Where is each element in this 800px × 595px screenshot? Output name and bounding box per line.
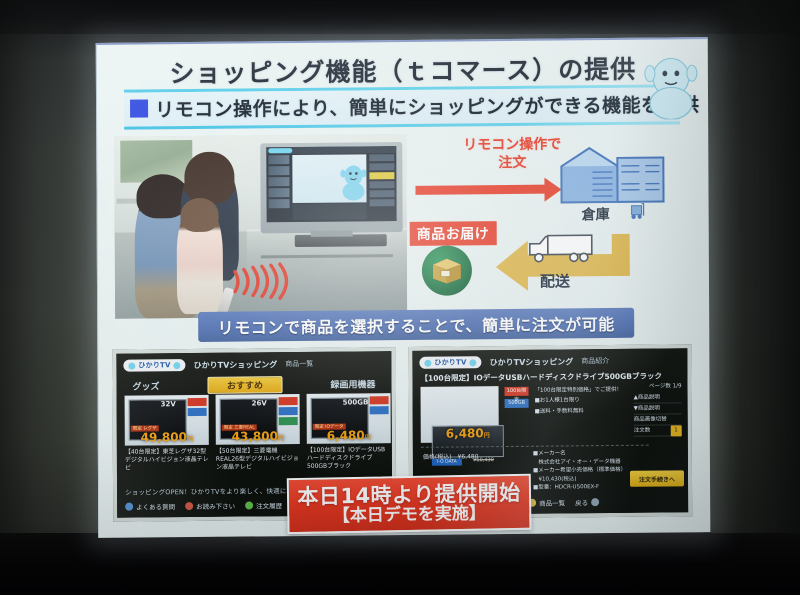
- warehouse-icon: [559, 143, 665, 206]
- product-grid: 32V 限定 レグザ 49,800円 【40台限定】東芝レグザ32型デジタルハイ…: [125, 393, 393, 473]
- detail-tags: 100台限定 500GB: [505, 387, 529, 411]
- product-price-value: 43,800: [232, 429, 278, 443]
- footer-button-order-history[interactable]: 注文履歴: [245, 500, 282, 510]
- detail-tag-limited: 100台限定: [505, 387, 529, 396]
- detail-note-2: ■送料・手数料無料: [535, 406, 645, 417]
- delivery-badge: 商品お届け: [410, 221, 497, 246]
- footer-button-faq[interactable]: よくある質問: [125, 501, 175, 511]
- order-checkout-button[interactable]: 注文手続きへ: [630, 470, 684, 487]
- tab-recommended[interactable]: おすすめ: [208, 376, 282, 394]
- detail-quantity-label: 注文数: [634, 425, 651, 436]
- detail-notes: 「100台限定特別価格」でご提供！ ■お1人様1台限り ■送料・手数料無料: [535, 385, 645, 417]
- tab-recording-devices[interactable]: 録画用機器: [324, 376, 381, 392]
- detail-footer-button-product-list[interactable]: 商品一覧: [528, 497, 565, 507]
- detail-tag-capacity: 500GB: [505, 399, 529, 408]
- hikari-tv-logo: ひかりTV: [419, 356, 481, 369]
- product-tags: [188, 398, 207, 418]
- detail-service-name: ひかりTVショッピング: [490, 356, 574, 368]
- footer-button-faq-label: よくある質問: [136, 501, 175, 511]
- list-service-name: ひかりTVショッピング: [194, 359, 278, 371]
- footer-button-readme-label: お読み下さい: [196, 501, 235, 511]
- detail-price-line: 価格(税込) ¥6,480: [423, 451, 479, 461]
- detail-quantity-value: 1: [670, 425, 682, 436]
- product-name: 【50台限定】三菱電機REAL26型デジタルハイビジョン液晶テレビ: [216, 447, 300, 472]
- tv-mascot-icon: [340, 162, 366, 200]
- detail-price-value: 6,480: [446, 426, 484, 440]
- product-price: 6,480円: [310, 429, 388, 442]
- tv-screen: [266, 146, 396, 222]
- category-tabs[interactable]: グッズ おすすめ 録画用機器: [126, 375, 381, 394]
- projected-slide: ショッピング機能（ｔコマース）の提供 リモコン操作により、簡単にショッピングがで…: [96, 37, 711, 538]
- tab-goods[interactable]: グッズ: [126, 378, 165, 393]
- logo-dot-icon: [424, 359, 431, 366]
- subtitle: リモコン操作により、簡単にショッピングができる機能を提供: [155, 90, 700, 122]
- product-price-value: 49,800: [141, 430, 187, 444]
- hikari-tv-mascot-icon: [644, 51, 698, 120]
- product-tag-freeship: [279, 407, 298, 415]
- footer-button-readme[interactable]: お読み下さい: [185, 501, 235, 511]
- hikari-tv-logo: ひかりTV: [123, 359, 185, 372]
- detail-side-panel: ページ数 1/9 ▲商品説明 ▼商品説明 商品画像切替 注文数 1: [633, 381, 681, 436]
- shipping-label: 配送: [540, 270, 570, 291]
- ir-signal-icon: [227, 255, 289, 308]
- product-tag-instock: [279, 417, 298, 425]
- detail-page-count: ページ数 1/9: [633, 381, 681, 392]
- logo-dot-icon-2: [174, 362, 181, 369]
- list-screen-header: ひかりTV ひかりTVショッピング 商品一覧: [123, 358, 313, 372]
- bullet-square-icon: [130, 99, 148, 117]
- warehouse-label: 倉庫: [582, 204, 610, 224]
- order-arrow-icon: [415, 185, 545, 195]
- detail-scroll-down-button[interactable]: ▼商品説明: [634, 403, 682, 414]
- detail-product-image[interactable]: I-O DATA ¥10,430 6,480円: [421, 386, 499, 443]
- announcement-line2: 【本日デモを実施】: [333, 504, 486, 525]
- product-price: 49,800円: [128, 431, 206, 444]
- red-key-icon: [185, 502, 193, 510]
- product-card[interactable]: 32V 限定 レグザ 49,800円 【40台限定】東芝レグザ32型デジタルハイ…: [125, 395, 209, 473]
- product-tag-freeship: [188, 408, 207, 416]
- caption-band: リモコンで商品を選択することで、簡単に注文が可能: [198, 308, 634, 342]
- product-price-value: 6,480: [327, 428, 365, 442]
- product-size: 32V: [161, 400, 176, 408]
- announcement-line1: 本日14時より提供開始: [297, 482, 521, 508]
- product-size: 500GB: [343, 398, 369, 406]
- detail-footer-back-label: 戻る: [575, 497, 588, 507]
- parcel-box-icon: [432, 256, 462, 284]
- family-watching-tv-photo: [114, 134, 407, 319]
- order-flow-label-line1: リモコン操作で: [447, 136, 577, 155]
- product-tag-limited: [188, 398, 207, 406]
- product-price-unit: 円: [365, 434, 371, 441]
- product-tags: [279, 397, 298, 427]
- blue-key-icon: [125, 503, 133, 511]
- logo-dot-icon-2: [470, 359, 477, 366]
- footer-button-order-history-label: 注文履歴: [256, 500, 282, 510]
- parcel-icon-circle: [422, 245, 472, 295]
- order-flow-diagram: リモコン操作で 注文 倉庫: [409, 131, 702, 316]
- back-key-icon: [591, 498, 599, 506]
- slide-canvas: ショッピング機能（ｔコマース）の提供 リモコン操作により、簡単にショッピングがで…: [96, 37, 711, 538]
- product-tag-freeship: [370, 406, 389, 414]
- product-tag-limited: [279, 397, 298, 405]
- detail-screen-header: ひかりTV ひかりTVショッピング 商品紹介: [419, 355, 609, 369]
- delivery-truck-icon: [528, 230, 596, 265]
- product-price: 43,800円: [219, 430, 297, 443]
- product-tags: [370, 396, 389, 416]
- announcement-banner: 本日14時より提供開始 【本日デモを実施】: [287, 474, 532, 534]
- product-price-unit: 円: [187, 436, 193, 443]
- caption-band-text: リモコンで商品を選択することで、簡単に注文が可能: [218, 311, 615, 339]
- detail-scroll-up-button[interactable]: ▲商品説明: [634, 392, 682, 403]
- detail-image-switch-button[interactable]: 商品画像切替: [634, 414, 682, 425]
- order-flow-label: リモコン操作で 注文: [447, 136, 577, 172]
- hikari-tv-logo-text: ひかりTV: [434, 357, 466, 367]
- list-page-label: 商品一覧: [285, 359, 313, 369]
- product-name: 【100台限定】IOデータUSBハードディスクドライブ500GBブラック: [307, 446, 391, 471]
- detail-page-label: 商品紹介: [581, 356, 609, 366]
- product-name: 【40台限定】東芝レグザ32型デジタルハイビジョン液晶テレビ: [125, 448, 209, 473]
- logo-dot-icon: [128, 362, 135, 369]
- detail-quantity-stepper[interactable]: 注文数 1: [634, 425, 682, 436]
- green-key-icon: [245, 501, 253, 509]
- hikari-tv-logo-text: ひかりTV: [138, 360, 170, 370]
- product-card[interactable]: 500GB 限定 IOデータ 6,480円 【100台限定】IOデータUSBハー…: [307, 393, 391, 471]
- product-tag-limited: [370, 396, 389, 404]
- forklift-icon: [628, 200, 650, 220]
- product-price-unit: 円: [278, 435, 284, 442]
- detail-price: 6,480円: [430, 426, 506, 441]
- detail-product-title: 【100台限定】IOデータUSBハードディスクドライブ500GBブラック: [420, 371, 662, 384]
- detail-footer-product-list-label: 商品一覧: [539, 497, 565, 507]
- order-flow-label-line2: 注文: [447, 154, 577, 173]
- detail-footer-button-back[interactable]: 戻る: [575, 497, 599, 507]
- product-card[interactable]: 26V 限定 三菱REAL 43,800円 【50台限定】三菱電機REAL26型…: [216, 394, 300, 472]
- product-size: 26V: [252, 399, 267, 407]
- detail-price-unit: 円: [484, 432, 490, 439]
